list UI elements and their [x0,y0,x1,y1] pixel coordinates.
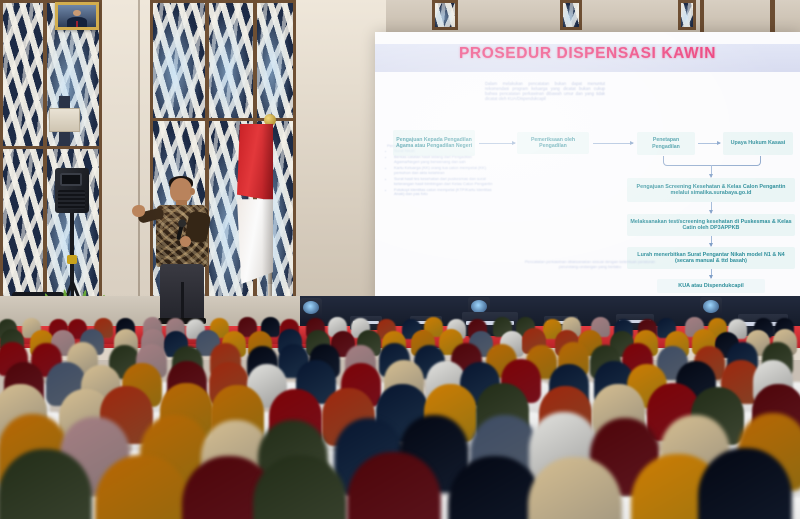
lattice-panel-1 [0,0,46,150]
photograph-scene: PROSEDUR DISPENSASI KAWIN Dalam melakuka… [0,0,800,519]
list-item: Kartu Keluarga (KK) orang tua calon memp… [394,166,495,175]
lattice-panel-5 [150,0,208,122]
framed-portrait [55,2,99,30]
lattice-panel-9 [254,0,296,122]
flow-arrow-4 [711,165,712,177]
sconce-lamp-icon [49,108,80,132]
flow-arrow-2 [593,143,633,144]
flow-arrow-6 [711,236,712,246]
lattice-panel-12 [560,0,582,30]
presenter-right-hand [180,236,191,247]
flow-box-6: Melaksanakan test/screening kesehatan di… [627,214,795,236]
slide-footnote: Pencatatan perkawinan dilaksanakan sesua… [515,260,665,269]
slide-intro-paragraph: Dalam melakukan pencatatan bukan dapat m… [485,82,605,102]
flow-arrow-7 [711,269,712,278]
flow-arrow-1 [479,143,515,144]
flow-box-1: Pengajuan Kepada Pengadilan Agama atau P… [393,130,475,156]
wall-pillar-center [296,0,386,300]
window-mullion [770,0,775,32]
stand-adjust-knob [67,255,77,264]
flow-box-4: Upaya Hukum Kasasi [723,132,793,155]
presenter-ear [190,188,195,195]
flow-brace [663,156,761,166]
flow-arrow-5 [711,202,712,213]
lattice-panel-13 [678,0,696,30]
slide-title: PROSEDUR DISPENSASI KAWIN [375,45,800,63]
pa-speaker [55,168,89,213]
list-item: Berkas catatan hasil sidang dari Pengadi… [394,155,495,164]
lattice-panel-11 [432,0,458,30]
flow-box-5: Pengajuan Screening Kesehatan & Kelas Ca… [627,178,795,202]
speaker-stand-pole [70,213,74,285]
presenter-left-hand [132,205,145,217]
lattice-panel-7 [206,0,256,122]
projection-screen: PROSEDUR DISPENSASI KAWIN Dalam melakuka… [375,32,800,304]
indonesian-flag [237,124,273,284]
flow-box-8: KUA atau Dispendukcapil [657,279,765,293]
flow-box-3: Penetapan Pengadilan [637,132,695,155]
window-mullion-2 [700,0,704,32]
list-item: Fotokopi identitas calon mempelai (KTP/K… [394,188,495,197]
flow-box-2: Pemeriksaan oleh Pengadilan [517,132,589,154]
flow-arrow-3 [698,143,720,144]
audience-seating [0,300,800,519]
list-item: Surat hasil tes kesehatan dari puskesmas… [394,177,495,186]
